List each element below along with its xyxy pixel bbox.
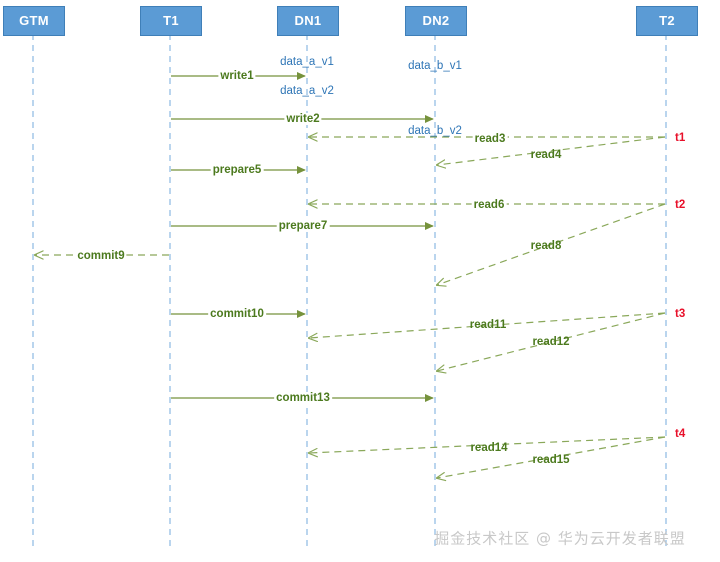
time-marker-t2: t2 [675, 199, 685, 211]
actor-label: T1 [163, 13, 179, 28]
message-label-read8: read8 [529, 240, 564, 252]
actor-box-gtm[interactable]: GTM [3, 6, 65, 36]
time-marker-t1: t1 [675, 132, 685, 144]
data-version-label-data_a_v2: data_a_v2 [280, 85, 334, 97]
time-marker-t3: t3 [675, 308, 685, 320]
actor-box-t2[interactable]: T2 [636, 6, 698, 36]
message-label-write2: write2 [284, 113, 321, 125]
message-label-commit13: commit13 [274, 392, 332, 404]
message-label-read6: read6 [472, 199, 507, 211]
message-label-write1: write1 [218, 70, 255, 82]
message-label-prepare7: prepare7 [277, 220, 330, 232]
data-version-label-data_b_v1: data_b_v1 [408, 60, 462, 72]
data-version-label-data_b_v2: data_b_v2 [408, 125, 462, 137]
actor-label: DN1 [295, 13, 322, 28]
sequence-diagram-canvas: GTMT1DN1DN2T2 write1write2read3read4prep… [0, 0, 720, 562]
actor-label: GTM [19, 13, 49, 28]
data-version-label-data_a_v1: data_a_v1 [280, 56, 334, 68]
message-label-read3: read3 [473, 133, 508, 145]
message-lines-group [35, 76, 665, 478]
actor-box-dn2[interactable]: DN2 [405, 6, 467, 36]
actor-label: T2 [659, 13, 675, 28]
message-label-read12: read12 [530, 336, 571, 348]
actor-box-t1[interactable]: T1 [140, 6, 202, 36]
message-label-read15: read15 [530, 454, 571, 466]
watermark-text: 掘金技术社区 @ 华为云开发者联盟 [434, 528, 686, 549]
message-label-commit9: commit9 [75, 250, 126, 262]
message-label-read11: read11 [468, 319, 508, 331]
message-label-read14: read14 [468, 442, 509, 454]
lifelines-group [33, 34, 666, 546]
message-label-read4: read4 [529, 149, 564, 161]
actor-label: DN2 [423, 13, 450, 28]
time-marker-t4: t4 [675, 428, 685, 440]
message-label-commit10: commit10 [208, 308, 266, 320]
actor-box-dn1[interactable]: DN1 [277, 6, 339, 36]
message-label-prepare5: prepare5 [211, 164, 264, 176]
diagram-vector-layer [0, 0, 720, 562]
